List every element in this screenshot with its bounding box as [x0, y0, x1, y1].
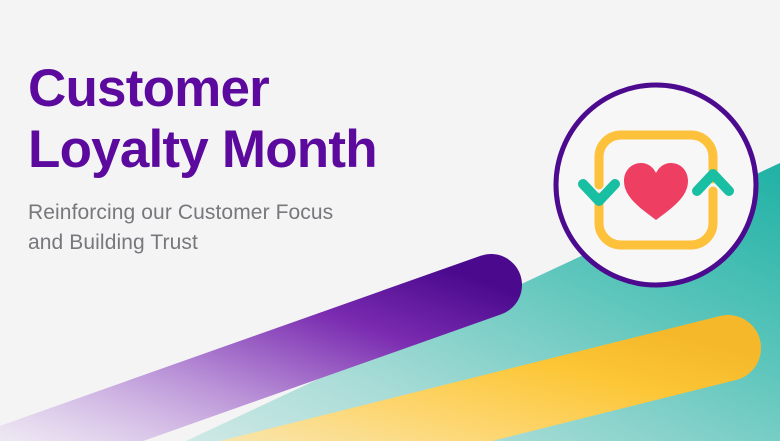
- page-subtitle: Reinforcing our Customer Focus and Build…: [28, 198, 498, 258]
- headline-block: Customer Loyalty Month Reinforcing our C…: [28, 58, 498, 258]
- customer-loyalty-banner: Customer Loyalty Month Reinforcing our C…: [0, 0, 780, 441]
- page-title: Customer Loyalty Month: [28, 58, 498, 180]
- customer-loyalty-cycle-icon: [550, 79, 762, 291]
